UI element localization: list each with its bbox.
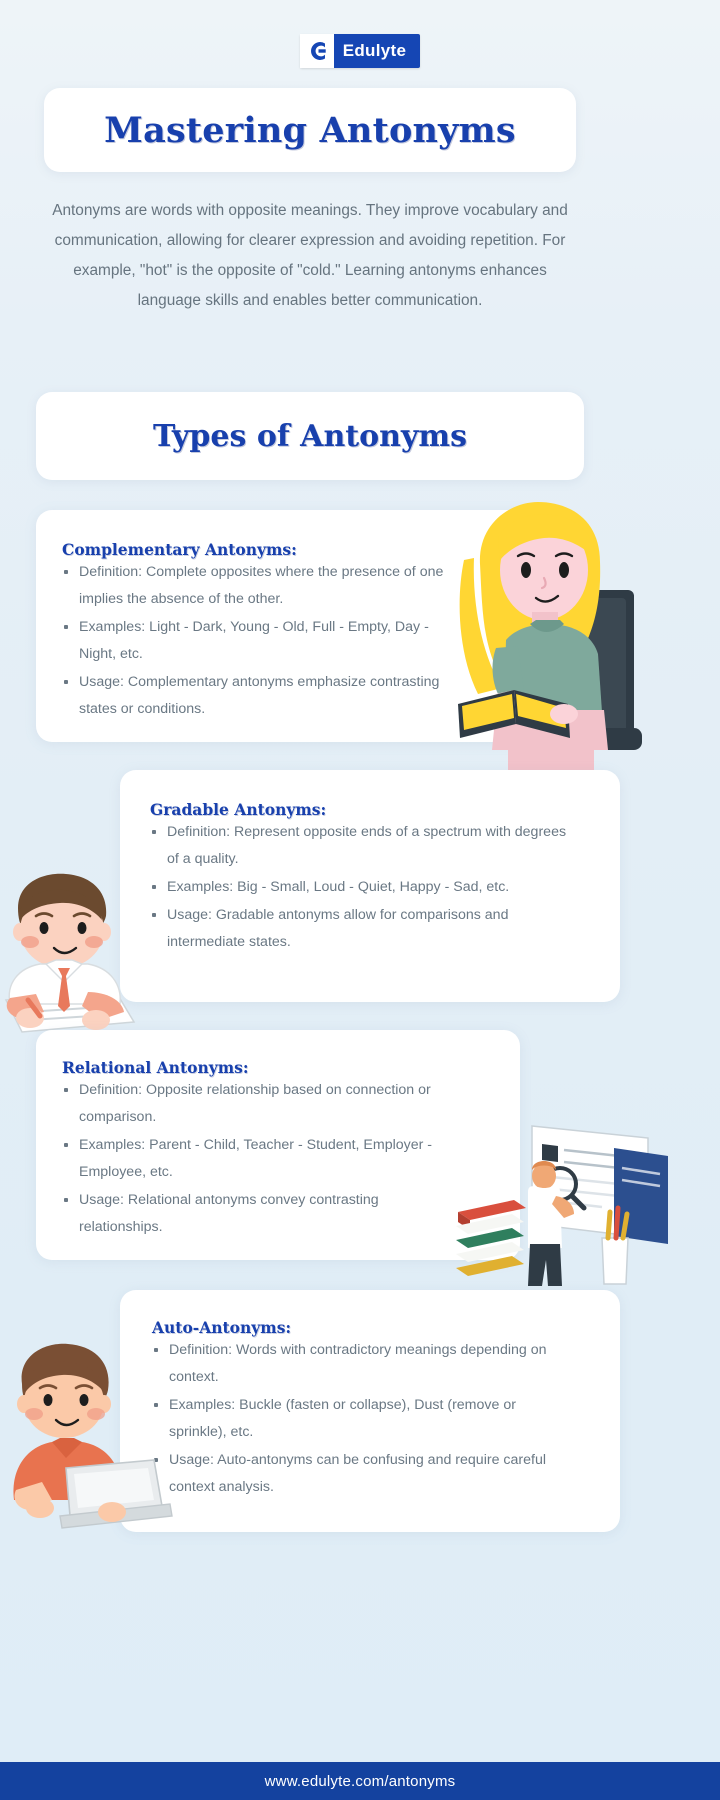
- list-item: Definition: Words with contradictory mea…: [152, 1337, 572, 1391]
- section-heading: Relational Antonyms:: [62, 1058, 462, 1077]
- footer-bar: www.edulyte.com/antonyms: [0, 1762, 720, 1800]
- page-title: Mastering Antonyms: [104, 110, 516, 151]
- list-item: Usage: Gradable antonyms allow for compa…: [150, 902, 570, 956]
- section-heading: Gradable Antonyms:: [150, 800, 570, 819]
- section-card-relational: Relational Antonyms: Definition: Opposit…: [36, 1030, 520, 1260]
- logo-badge[interactable]: Edulyte: [300, 34, 421, 68]
- section-bullets: Definition: Words with contradictory mea…: [152, 1337, 572, 1501]
- list-item: Definition: Represent opposite ends of a…: [150, 819, 570, 873]
- logo-text: Edulyte: [334, 41, 421, 61]
- intro-paragraph: Antonyms are words with opposite meaning…: [50, 196, 570, 316]
- section-bullets: Definition: Represent opposite ends of a…: [150, 819, 570, 956]
- section-card-gradable: Gradable Antonyms: Definition: Represent…: [120, 770, 620, 1002]
- infographic-page: Edulyte Mastering Antonyms Antonyms are …: [0, 0, 720, 1800]
- title-card: Mastering Antonyms: [44, 88, 576, 172]
- edulyte-e-mark-icon: [300, 34, 334, 68]
- section-heading: Complementary Antonyms:: [62, 540, 462, 559]
- list-item: Definition: Opposite relationship based …: [62, 1077, 462, 1131]
- list-item: Examples: Buckle (fasten or collapse), D…: [152, 1392, 572, 1446]
- types-heading: Types of Antonyms: [153, 419, 467, 454]
- list-item: Definition: Complete opposites where the…: [62, 559, 462, 613]
- brand-logo[interactable]: Edulyte: [0, 34, 720, 68]
- footer-url[interactable]: www.edulyte.com/antonyms: [265, 1773, 456, 1790]
- section-card-auto-antonyms: Auto-Antonyms: Definition: Words with co…: [120, 1290, 620, 1532]
- section-bullets: Definition: Opposite relationship based …: [62, 1077, 462, 1241]
- list-item: Usage: Auto-antonyms can be confusing an…: [152, 1447, 572, 1501]
- boy-with-laptop-illustration: [4, 1340, 174, 1540]
- section-bullets: Definition: Complete opposites where the…: [62, 559, 462, 723]
- person-books-documents-illustration: [452, 1120, 682, 1300]
- list-item: Usage: Relational antonyms convey contra…: [62, 1187, 462, 1241]
- list-item: Examples: Big - Small, Loud - Quiet, Hap…: [150, 874, 570, 901]
- list-item: Examples: Light - Dark, Young - Old, Ful…: [62, 614, 462, 668]
- list-item: Usage: Complementary antonyms emphasize …: [62, 669, 462, 723]
- section-heading: Auto-Antonyms:: [152, 1318, 572, 1337]
- list-item: Examples: Parent - Child, Teacher - Stud…: [62, 1132, 462, 1186]
- types-heading-card: Types of Antonyms: [36, 392, 584, 480]
- boy-writing-notes-illustration: [0, 872, 166, 1042]
